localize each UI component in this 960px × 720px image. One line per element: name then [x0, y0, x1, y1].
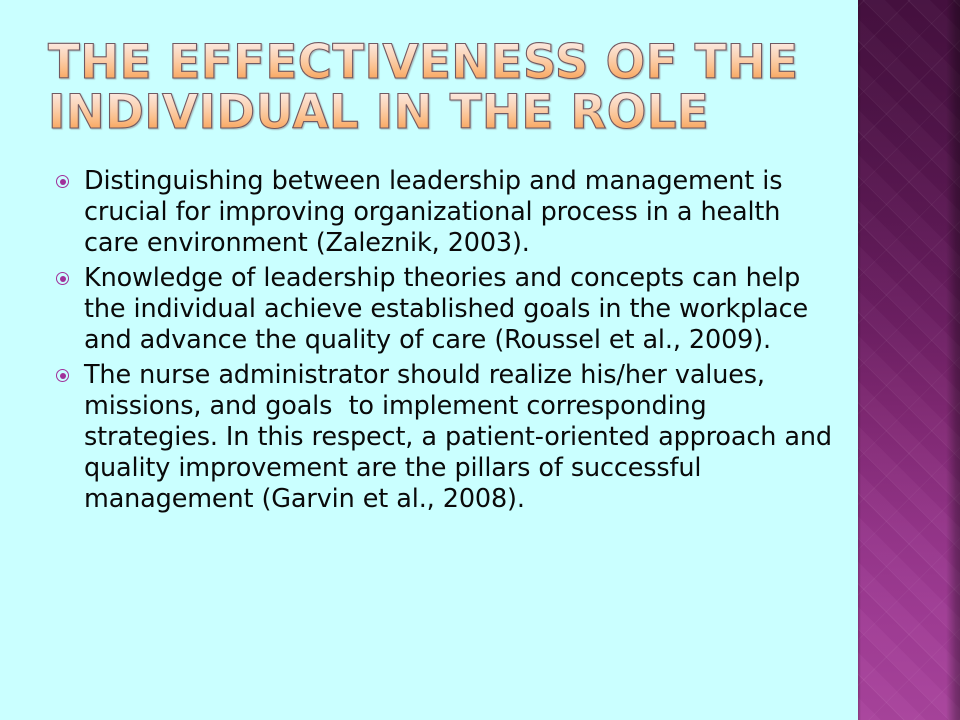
title-line-2: INDIVIDUAL IN THE ROLE	[48, 88, 830, 138]
slide-canvas: THE EFFECTIVENESS OF THE INDIVIDUAL IN T…	[0, 0, 960, 720]
side-panel-left-edge-shadow	[858, 0, 861, 720]
bullet-item: Distinguishing between leadership and ma…	[52, 166, 842, 259]
bullet-item: The nurse administrator should realize h…	[52, 360, 842, 515]
decorative-side-panel	[858, 0, 960, 720]
slide-body: Distinguishing between leadership and ma…	[52, 166, 842, 519]
side-panel-right-edge-shadow	[946, 0, 960, 720]
bullet-text: Knowledge of leadership theories and con…	[84, 263, 816, 355]
bullet-text: The nurse administrator should realize h…	[84, 360, 840, 514]
ring-dot-bullet-icon	[56, 175, 69, 188]
bullet-item: Knowledge of leadership theories and con…	[52, 263, 842, 356]
slide-title: THE EFFECTIVENESS OF THE INDIVIDUAL IN T…	[48, 38, 838, 138]
bullet-text: Distinguishing between leadership and ma…	[84, 166, 791, 258]
ring-dot-bullet-icon	[56, 369, 69, 382]
ring-dot-bullet-icon	[56, 272, 69, 285]
title-line-1: THE EFFECTIVENESS OF THE	[48, 38, 830, 88]
diamond-lattice-pattern	[858, 0, 960, 720]
